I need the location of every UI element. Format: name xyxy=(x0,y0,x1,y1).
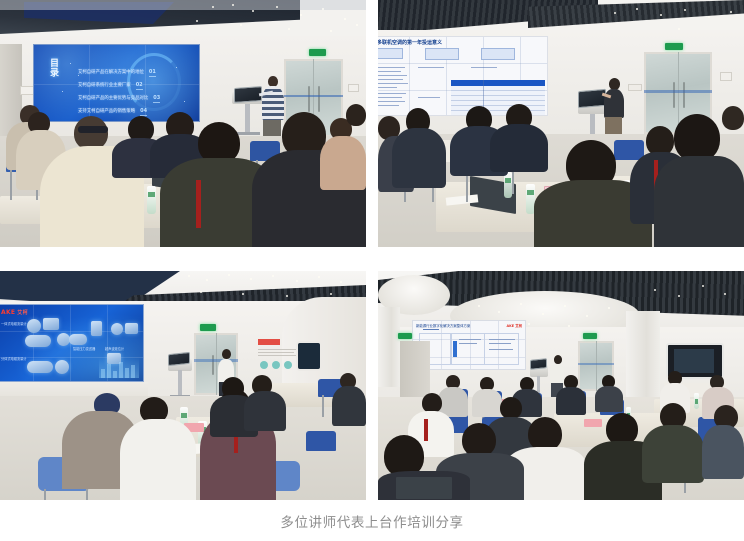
exit-sign-icon xyxy=(665,43,683,50)
figure-container: 目录 艾柯自研产品在解决方案中的地位 01 艾柯自研系统行业主要厂家 02 艾柯… xyxy=(0,0,744,541)
exit-sign-icon xyxy=(309,49,326,56)
slide-logo: AKE 艾柯 xyxy=(506,323,522,328)
led-video-wall: 目录 艾柯自研产品在解决方案中的地位 01 艾柯自研系统行业主要厂家 02 艾柯… xyxy=(33,44,200,122)
laptop xyxy=(396,477,452,499)
podium-monitor xyxy=(168,352,190,366)
brand-logo: AKE艾柯 xyxy=(1,309,28,317)
exit-sign-icon xyxy=(398,333,412,339)
figure-caption: 多位讲师代表上台作培训分享 xyxy=(0,514,744,532)
photo-bottom-right[interactable]: 新能源行业数字化解决方案整体方案 AKE 艾柯 xyxy=(378,271,744,500)
toc-item-1: 艾柯自研产品在解决方案中的地位 01 xyxy=(78,69,156,77)
podium-monitor xyxy=(234,86,262,103)
podium-monitor xyxy=(530,358,547,370)
slide-title: 目录 xyxy=(48,58,58,80)
photo-grid: 目录 艾柯自研产品在解决方案中的地位 01 艾柯自研系统行业主要厂家 02 艾柯… xyxy=(0,0,744,500)
slide-title: 多联机空调的第一年投运意义 xyxy=(378,40,442,46)
exit-sign-icon xyxy=(583,333,597,339)
wall-logo xyxy=(258,339,280,345)
exit-sign-icon xyxy=(200,324,216,331)
photo-bottom-left[interactable]: AKE艾柯 一体式电磁流量计 分体式电磁流量计 智能压力变送器 超声波液位计 xyxy=(0,271,366,500)
photo-top-right[interactable]: 多联机空调的第一年投运意义 xyxy=(378,0,744,247)
led-video-wall: AKE艾柯 一体式电磁流量计 分体式电磁流量计 智能压力变送器 超声波液位计 xyxy=(0,304,144,382)
toc-item-4: 支持艾柯自研产品的销售策略 04 xyxy=(78,108,147,116)
slide-title: 新能源行业数字化解决方案整体方案 xyxy=(416,323,470,328)
toc-item-3: 艾柯自研产品的主要优势与竞品对比 03 xyxy=(78,95,160,103)
toc-item-2: 艾柯自研系统行业主要厂家 02 xyxy=(78,82,143,90)
photo-top-left[interactable]: 目录 艾柯自研产品在解决方案中的地位 01 艾柯自研系统行业主要厂家 02 艾柯… xyxy=(0,0,366,247)
wall-display xyxy=(296,341,322,371)
